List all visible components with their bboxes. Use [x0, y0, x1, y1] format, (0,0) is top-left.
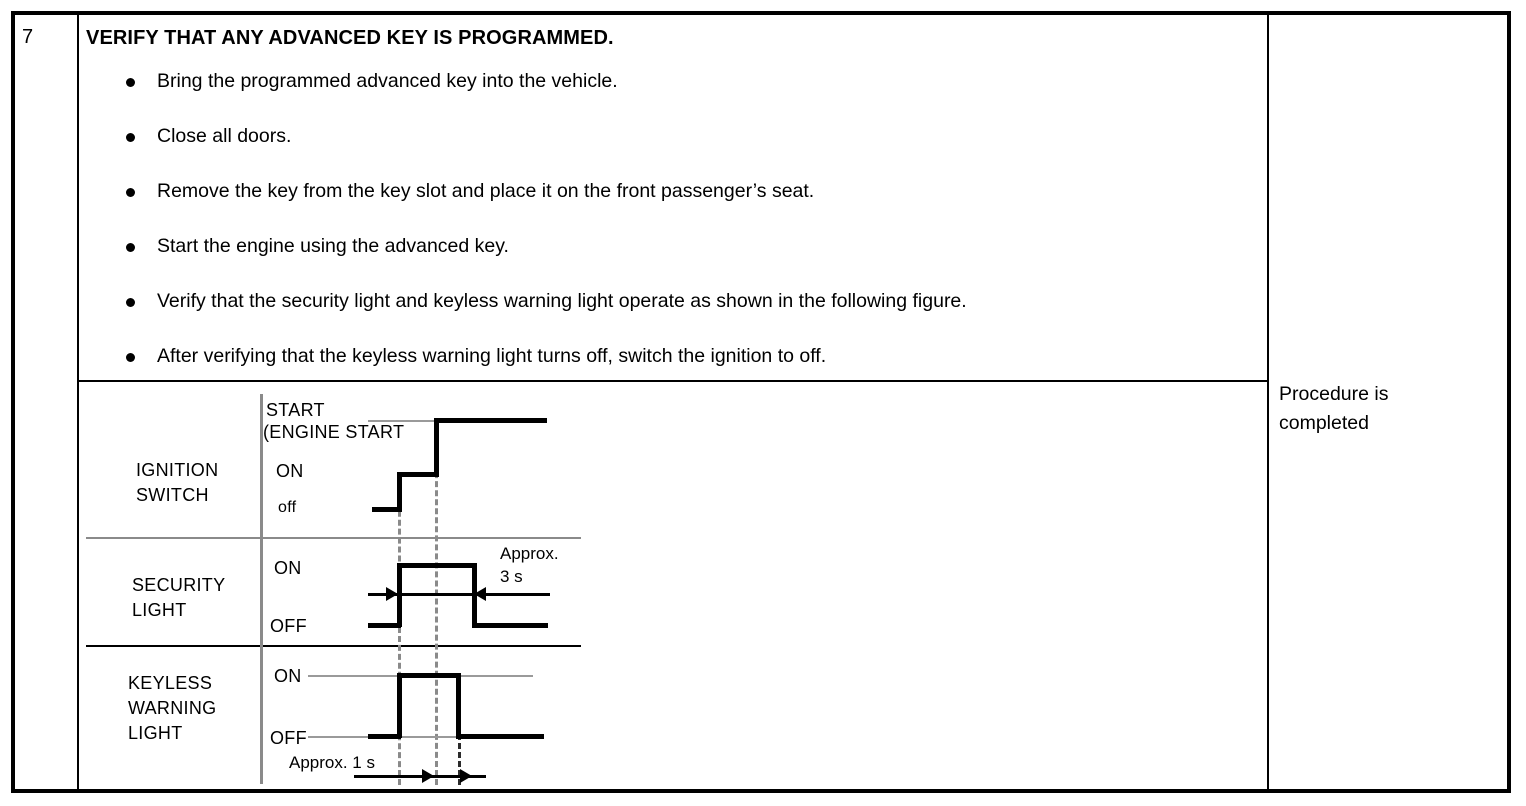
state-label-keyless-off: OFF: [270, 727, 307, 749]
waveform-ignition-rise-start: [434, 418, 439, 477]
signal-label-line-2: WARNING: [128, 696, 216, 721]
list-item: Close all doors.: [86, 127, 1246, 182]
chart-top-separator: [78, 380, 1267, 382]
state-label-engine-start: (ENGINE START: [263, 421, 404, 443]
waveform-keyless-rise: [397, 673, 402, 738]
signal-label-line-1: IGNITION: [136, 458, 218, 483]
state-label-security-off: OFF: [270, 615, 307, 637]
dimension-arrow-left-3s: [474, 587, 486, 601]
bullet-dot-icon: [126, 78, 135, 87]
bullet-dot-icon: [126, 353, 135, 362]
state-label-ignition-off: off: [278, 497, 296, 519]
signal-label-security-light: SECURITY LIGHT: [132, 573, 225, 623]
annotation-approx-3s-line-2: 3 s: [500, 566, 523, 587]
waveform-ignition-rise-on: [397, 472, 402, 512]
waveform-keyless-on-segment: [397, 673, 460, 678]
instruction-list: Bring the programmed advanced key into t…: [86, 72, 1246, 402]
step-number: 7: [22, 26, 33, 48]
bullet-dot-icon: [126, 188, 135, 197]
annotation-approx-1s: Approx. 1 s: [289, 752, 375, 773]
signal-label-keyless-warning-light: KEYLESS WARNING LIGHT: [128, 671, 216, 746]
list-item: Verify that the security light and keyle…: [86, 292, 1246, 347]
signal-label-line-1: SECURITY: [132, 573, 225, 598]
waveform-ignition-on-segment: [397, 472, 439, 477]
dimension-arrow-right-1s: [422, 769, 434, 783]
list-item: Remove the key from the key slot and pla…: [86, 182, 1246, 237]
page-root: 7 VERIFY THAT ANY ADVANCED KEY IS PROGRA…: [0, 0, 1526, 806]
state-label-keyless-on: ON: [274, 665, 302, 687]
list-item-label: Bring the programmed advanced key into t…: [157, 70, 618, 92]
bullet-dot-icon: [126, 298, 135, 307]
list-item-label: Remove the key from the key slot and pla…: [157, 180, 814, 202]
list-item-label: Start the engine using the advanced key.: [157, 235, 509, 257]
dimension-line-approx-1s-tail: [438, 775, 486, 778]
waveform-keyless-fall: [456, 673, 461, 738]
result-line-2: completed: [1279, 409, 1499, 438]
page-title: VERIFY THAT ANY ADVANCED KEY IS PROGRAMM…: [86, 26, 614, 50]
state-label-start: START: [266, 399, 325, 421]
result-status-text: Procedure is completed: [1279, 380, 1499, 438]
state-label-ignition-on: ON: [276, 460, 304, 482]
timing-chart: IGNITION SWITCH START (ENGINE START ON o…: [78, 380, 1267, 793]
list-item-label: Close all doors.: [157, 125, 291, 147]
waveform-keyless-off-post: [456, 734, 544, 739]
signal-label-line-2: SWITCH: [136, 483, 218, 508]
list-item-label: After verifying that the keyless warning…: [157, 345, 826, 367]
list-item-label: Verify that the security light and keyle…: [157, 290, 967, 312]
waveform-security-off-post: [472, 623, 548, 628]
column-divider-result: [1267, 11, 1269, 793]
dimension-arrow-right-3s: [386, 587, 398, 601]
signal-label-line-2: LIGHT: [132, 598, 225, 623]
annotation-approx-3s-line-1: Approx.: [500, 543, 559, 564]
state-label-security-on: ON: [274, 557, 302, 579]
waveform-security-on-segment: [397, 563, 477, 568]
chart-row-separator-1: [86, 537, 581, 539]
waveform-ignition-start-segment: [434, 418, 547, 423]
chart-vertical-axis: [260, 394, 263, 784]
list-item: Start the engine using the advanced key.: [86, 237, 1246, 292]
bullet-dot-icon: [126, 133, 135, 142]
signal-label-ignition-switch: IGNITION SWITCH: [136, 458, 218, 508]
signal-label-line-3: LIGHT: [128, 721, 216, 746]
chart-row-separator-2: [86, 645, 581, 647]
bullet-dot-icon: [126, 243, 135, 252]
signal-label-line-1: KEYLESS: [128, 671, 216, 696]
list-item: Bring the programmed advanced key into t…: [86, 72, 1246, 127]
result-line-1: Procedure is: [1279, 380, 1499, 409]
